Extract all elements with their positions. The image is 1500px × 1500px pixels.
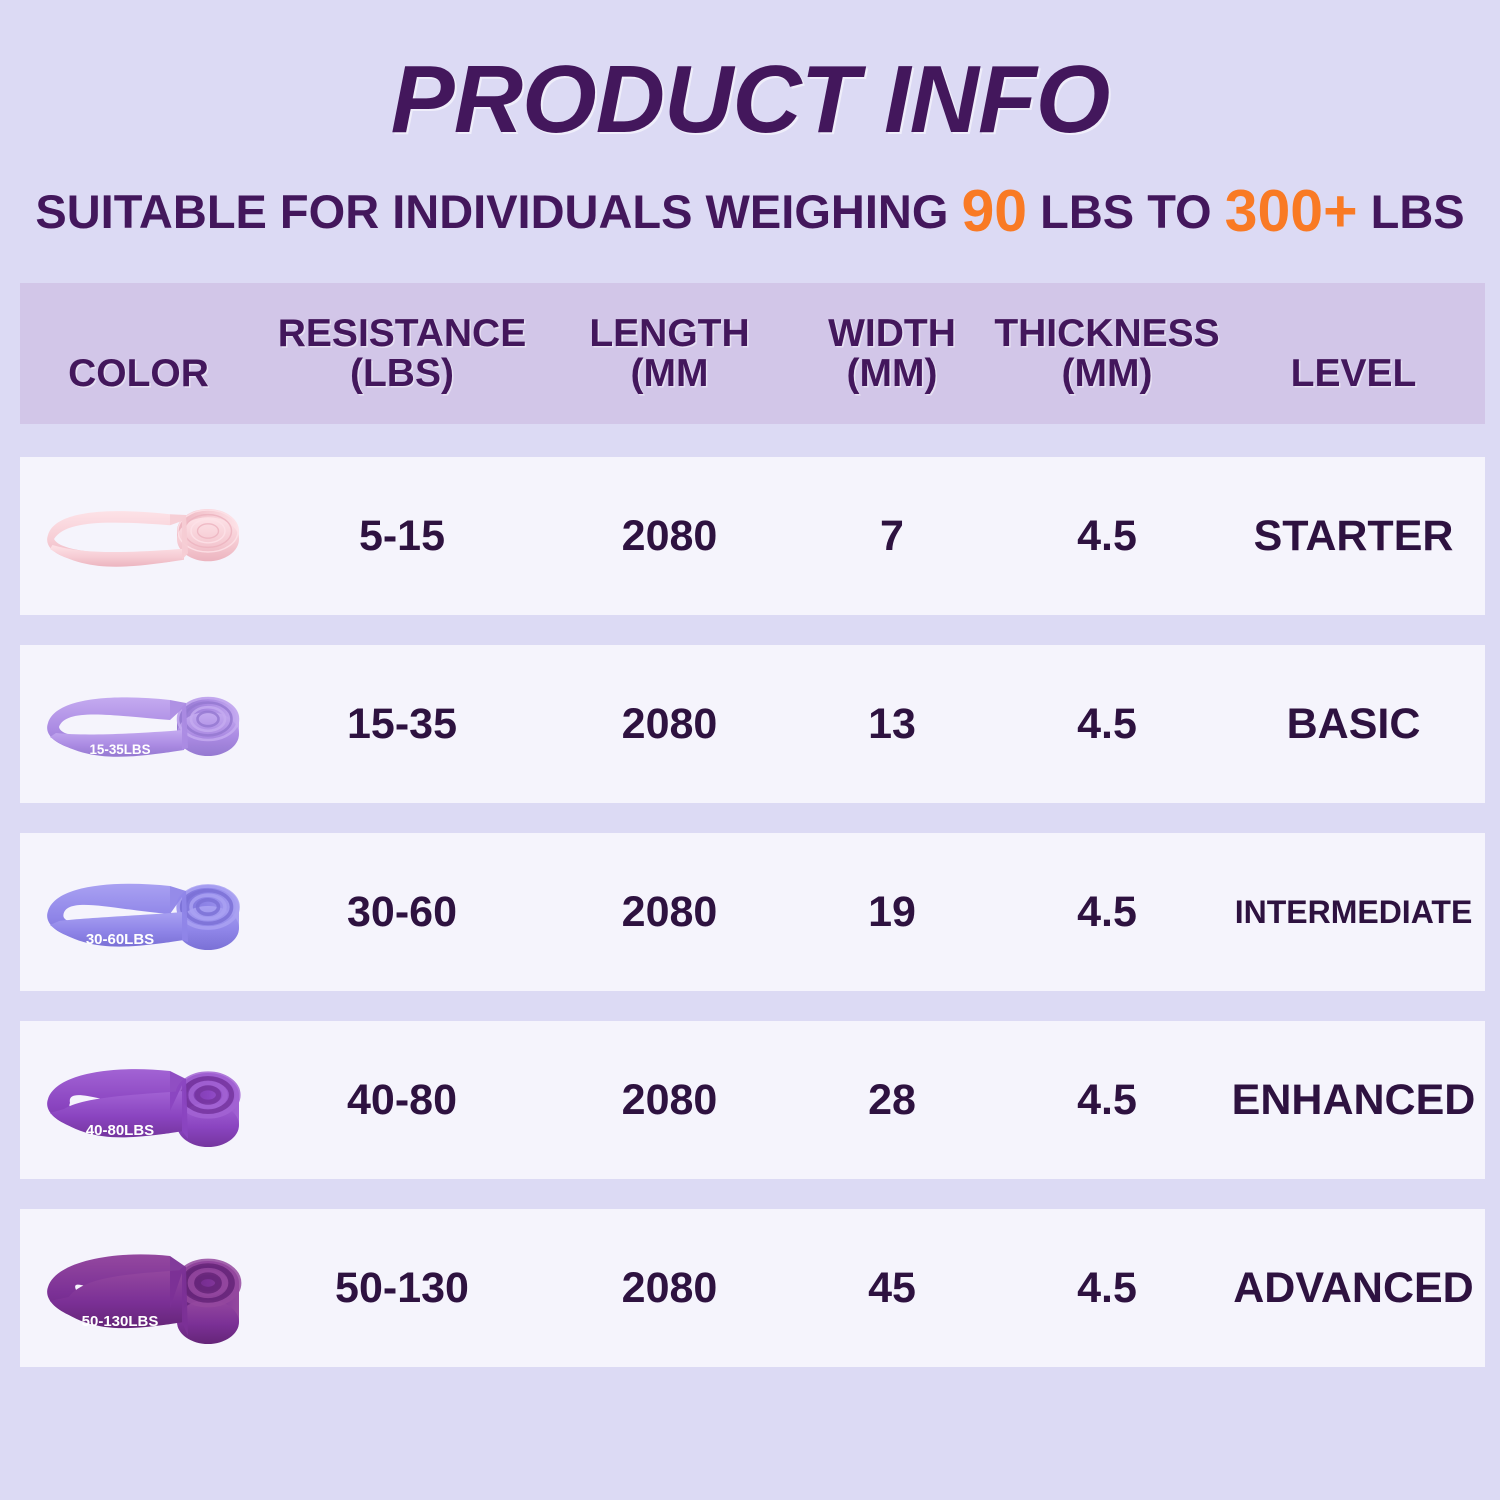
column-header-level-line1: LEVEL bbox=[1291, 352, 1417, 395]
cell-length: 2080 bbox=[547, 703, 792, 746]
cell-width: 28 bbox=[792, 1079, 992, 1122]
cell-thickness: 4.5 bbox=[992, 703, 1222, 746]
column-header-length-line2: (MM bbox=[547, 354, 792, 394]
band-swatch bbox=[20, 471, 257, 601]
column-header-thickness-line1: THICKNESS bbox=[994, 312, 1219, 355]
product-info-page: PRODUCT INFO SUITABLE FOR INDIVIDUALS WE… bbox=[0, 0, 1500, 1500]
cell-color: 40-80LBS bbox=[20, 1035, 257, 1165]
band-swatch: 40-80LBS bbox=[20, 1035, 257, 1165]
table-row: 50-130LBS 50-130 2080 45 4.5 ADVANCED bbox=[20, 1209, 1485, 1367]
column-header-width-line1: WIDTH bbox=[828, 312, 956, 355]
cell-width: 7 bbox=[792, 515, 992, 558]
cell-thickness: 4.5 bbox=[992, 1267, 1222, 1310]
column-header-resistance-line1: RESISTANCE bbox=[278, 312, 526, 355]
cell-width: 13 bbox=[792, 703, 992, 746]
page-title: PRODUCT INFO bbox=[0, 52, 1500, 148]
column-header-resistance: RESISTANCE (LBS) bbox=[257, 314, 547, 394]
cell-color: 30-60LBS bbox=[20, 847, 257, 977]
table-header-row: COLOR RESISTANCE (LBS) LENGTH (MM WIDTH … bbox=[20, 283, 1485, 424]
column-header-resistance-line2: (LBS) bbox=[257, 354, 547, 394]
cell-length: 2080 bbox=[547, 1267, 792, 1310]
cell-resistance: 30-60 bbox=[257, 891, 547, 934]
column-header-color: COLOR bbox=[20, 354, 257, 394]
band-label-text: 50-130LBS bbox=[82, 1313, 159, 1330]
cell-level: BASIC bbox=[1222, 703, 1485, 746]
subtitle-weight-min: 90 bbox=[961, 178, 1027, 244]
cell-color bbox=[20, 471, 257, 601]
column-header-width: WIDTH (MM) bbox=[792, 314, 992, 394]
cell-width: 45 bbox=[792, 1267, 992, 1310]
page-subtitle: SUITABLE FOR INDIVIDUALS WEIGHING 90 LBS… bbox=[0, 182, 1500, 241]
column-header-length: LENGTH (MM bbox=[547, 314, 792, 394]
subtitle-text-3: LBS bbox=[1358, 185, 1465, 238]
column-header-color-line1: COLOR bbox=[68, 352, 209, 395]
cell-thickness: 4.5 bbox=[992, 1079, 1222, 1122]
band-swatch: 15-35LBS bbox=[20, 659, 257, 789]
column-header-length-line1: LENGTH bbox=[589, 312, 749, 355]
band-image-1: 15-35LBS bbox=[20, 659, 257, 789]
column-header-thickness-line2: (MM) bbox=[992, 354, 1222, 394]
band-label-text: 40-80LBS bbox=[86, 1122, 154, 1139]
cell-resistance: 15-35 bbox=[257, 703, 547, 746]
band-image-3: 40-80LBS bbox=[20, 1035, 257, 1165]
band-image-0 bbox=[20, 471, 257, 601]
column-header-width-line2: (MM) bbox=[792, 354, 992, 394]
band-image-4: 50-130LBS bbox=[20, 1223, 257, 1353]
subtitle-weight-max: 300+ bbox=[1225, 178, 1358, 244]
subtitle-text-2: LBS TO bbox=[1027, 185, 1225, 238]
table-row: 40-80LBS 40-80 2080 28 4.5 ENHANCED bbox=[20, 1021, 1485, 1179]
band-swatch: 50-130LBS bbox=[20, 1223, 257, 1353]
table-row: 30-60LBS 30-60 2080 19 4.5 INTERMEDIATE bbox=[20, 833, 1485, 991]
cell-resistance: 5-15 bbox=[257, 515, 547, 558]
band-label-text: 30-60LBS bbox=[86, 931, 154, 948]
cell-level: ENHANCED bbox=[1222, 1079, 1485, 1122]
band-label-text: 15-35LBS bbox=[89, 742, 150, 757]
cell-length: 2080 bbox=[547, 1079, 792, 1122]
band-image-2: 30-60LBS bbox=[20, 847, 257, 977]
cell-thickness: 4.5 bbox=[992, 515, 1222, 558]
column-header-thickness: THICKNESS (MM) bbox=[992, 314, 1222, 394]
table-row: 15-35LBS 15-35 2080 13 4.5 BASIC bbox=[20, 645, 1485, 803]
cell-level: STARTER bbox=[1222, 515, 1485, 558]
cell-color: 15-35LBS bbox=[20, 659, 257, 789]
cell-level: INTERMEDIATE bbox=[1222, 896, 1485, 928]
cell-resistance: 50-130 bbox=[257, 1267, 547, 1310]
cell-resistance: 40-80 bbox=[257, 1079, 547, 1122]
subtitle-text-1: SUITABLE FOR INDIVIDUALS WEIGHING bbox=[35, 185, 961, 238]
table-body: 5-15 2080 7 4.5 STARTER bbox=[20, 457, 1485, 1367]
cell-length: 2080 bbox=[547, 515, 792, 558]
band-swatch: 30-60LBS bbox=[20, 847, 257, 977]
cell-thickness: 4.5 bbox=[992, 891, 1222, 934]
cell-length: 2080 bbox=[547, 891, 792, 934]
cell-level: ADVANCED bbox=[1222, 1267, 1485, 1310]
column-header-level: LEVEL bbox=[1222, 354, 1485, 394]
product-spec-table: COLOR RESISTANCE (LBS) LENGTH (MM WIDTH … bbox=[20, 283, 1485, 1367]
cell-color: 50-130LBS bbox=[20, 1223, 257, 1353]
cell-width: 19 bbox=[792, 891, 992, 934]
table-row: 5-15 2080 7 4.5 STARTER bbox=[20, 457, 1485, 615]
